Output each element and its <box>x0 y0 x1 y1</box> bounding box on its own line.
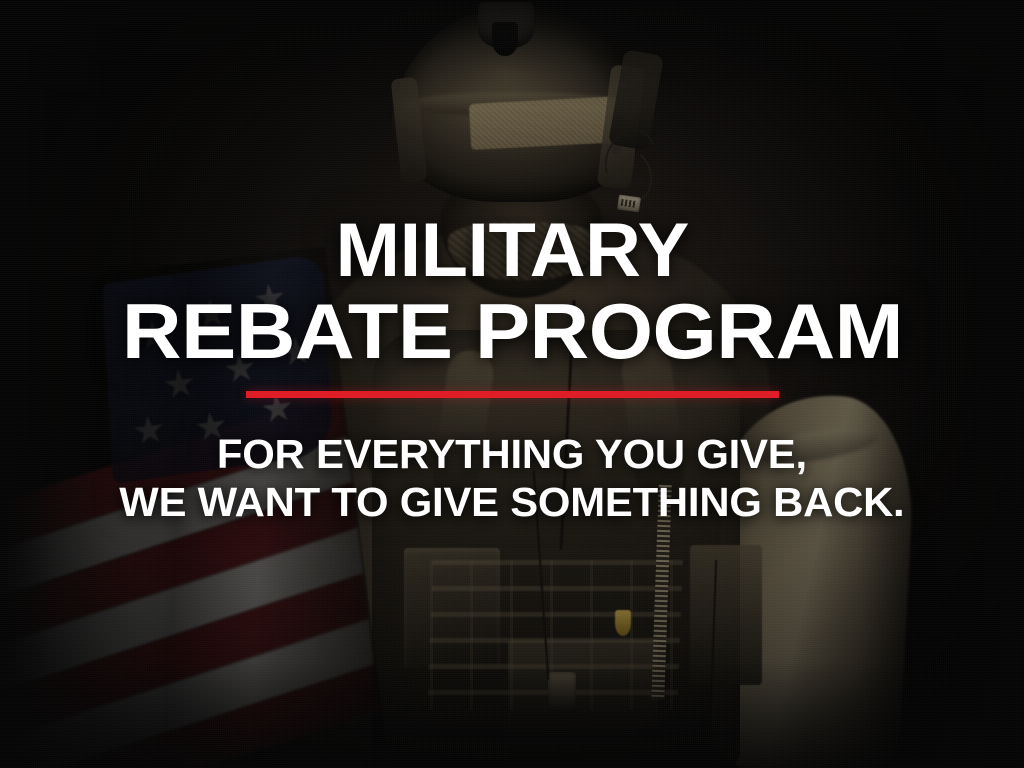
text-overlay: MILITARY REBATE PROGRAM FOR EVERYTHING Y… <box>0 0 1024 768</box>
red-divider-rule <box>246 391 779 398</box>
military-rebate-poster: MILITARY REBATE PROGRAM FOR EVERYTHING Y… <box>0 0 1024 768</box>
subheadline-line-2: WE WANT TO GIVE SOMETHING BACK. <box>119 478 904 526</box>
headline-line-2: REBATE PROGRAM <box>121 294 902 369</box>
subheadline: FOR EVERYTHING YOU GIVE, WE WANT TO GIVE… <box>119 430 904 527</box>
subheadline-line-1: FOR EVERYTHING YOU GIVE, <box>119 430 904 478</box>
headline-line-1: MILITARY <box>335 215 688 288</box>
